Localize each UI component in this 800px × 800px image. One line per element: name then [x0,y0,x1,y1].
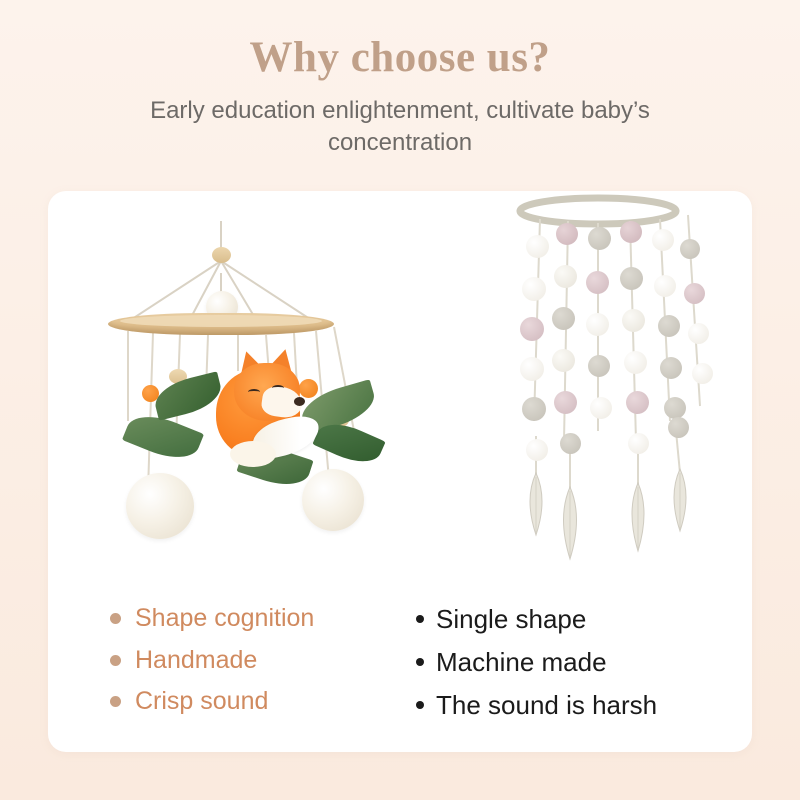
list-item: Crisp sound [110,684,410,720]
right-feature-list: Single shape Machine made The sound is h… [416,601,736,730]
bullet-dot-icon [110,696,121,707]
fox-nose [294,397,305,406]
list-item: The sound is harsh [416,687,736,724]
pompom-mobile-photo [448,191,752,601]
wooden-ring-inner [120,315,322,327]
wooden-feathers [448,191,752,601]
left-feature-list: Shape cognition Handmade Crisp sound [110,601,410,726]
orange-bead [299,379,318,398]
bullet-dot-icon [110,655,121,666]
list-item-label: Shape cognition [135,601,314,637]
list-item-label: Crisp sound [135,684,268,720]
page-title: Why choose us? [0,34,800,81]
fox-eye [248,389,260,395]
header: Why choose us? Early education enlighten… [0,0,800,159]
list-item: Machine made [416,644,736,681]
comparison-card: Shape cognition Handmade Crisp sound Sin… [48,191,752,752]
list-item-label: Handmade [135,643,257,679]
list-item-label: Machine made [436,644,607,681]
cream-pompom [302,469,364,531]
bullet-dot-icon [416,615,424,623]
list-item: Shape cognition [110,601,410,637]
fox-eye [272,385,284,391]
cream-pompom [126,473,194,539]
photo-area [48,191,752,601]
page-subtitle: Early education enlightenment, cultivate… [120,95,680,158]
list-item-label: Single shape [436,601,586,638]
list-item-label: The sound is harsh [436,687,657,724]
bullet-dot-icon [416,658,424,666]
bullet-dot-icon [110,613,121,624]
top-bead [212,247,231,263]
fox-mobile-photo [48,191,448,601]
list-item: Single shape [416,601,736,638]
feature-lists: Shape cognition Handmade Crisp sound Sin… [48,601,752,752]
fox-paw [230,441,276,467]
list-item: Handmade [110,643,410,679]
bullet-dot-icon [416,701,424,709]
promo-page: Why choose us? Early education enlighten… [0,0,800,800]
